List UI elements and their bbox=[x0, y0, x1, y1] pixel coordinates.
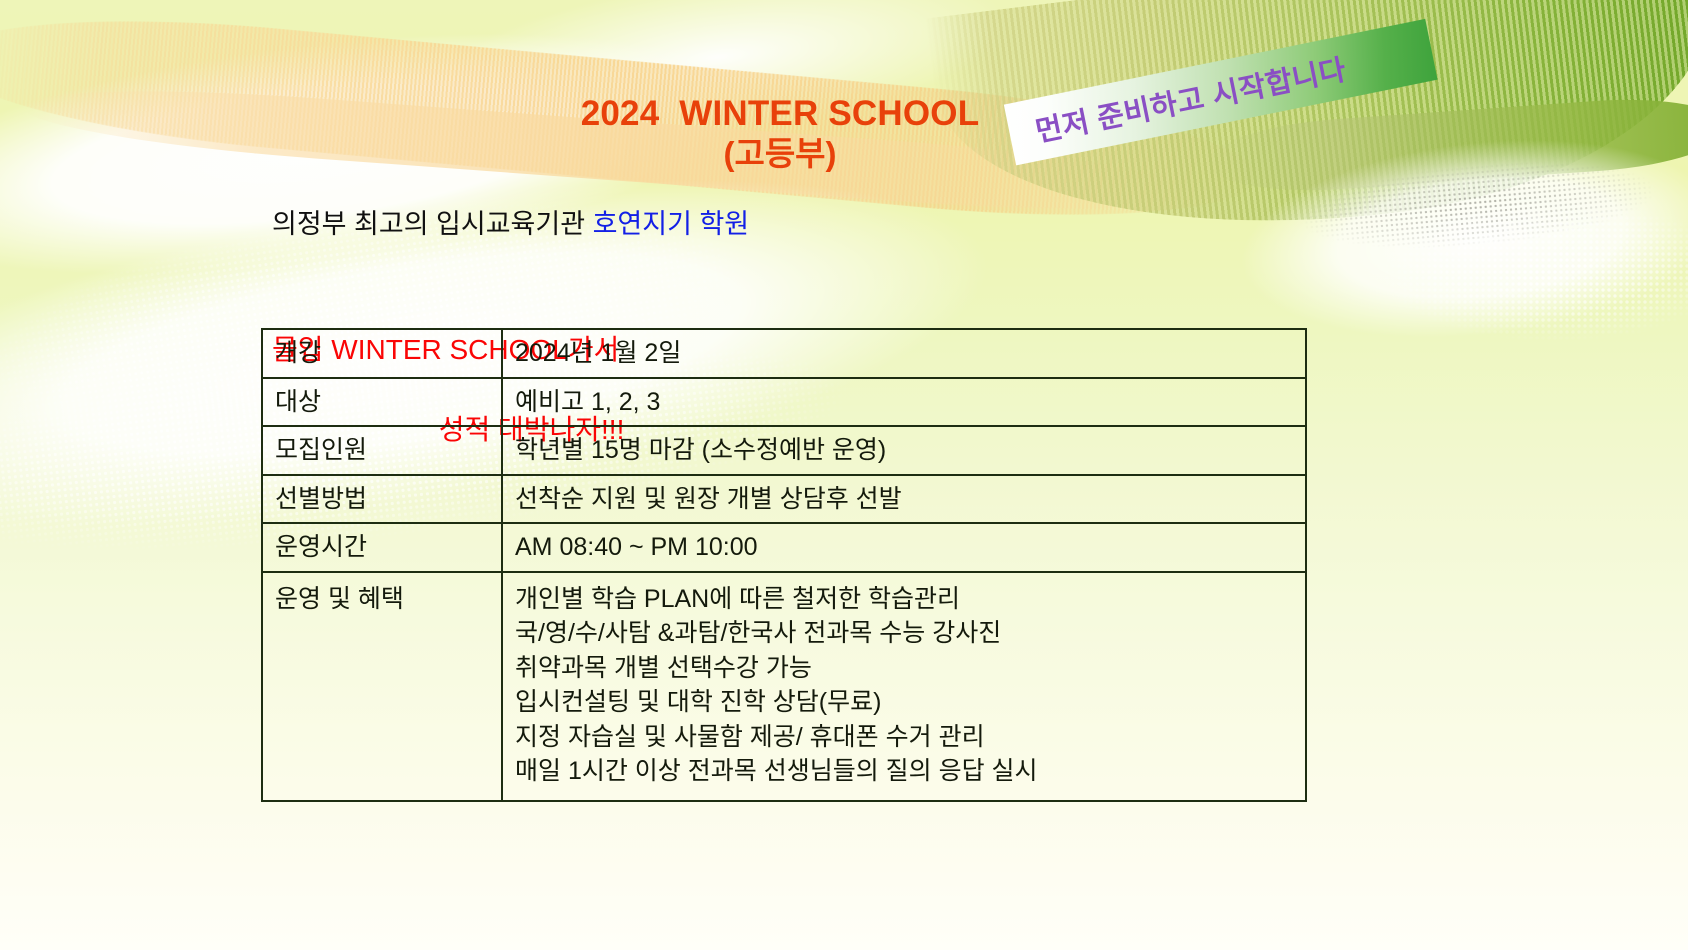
poster-canvas: 2024 WINTER SCHOOL (고등부) 먼저 준비하고 시작합니다 의… bbox=[0, 0, 1688, 950]
table-row: 대상 예비고 1, 2, 3 bbox=[262, 378, 1306, 427]
table-row-value: 2024년 1월 2일 bbox=[502, 329, 1306, 378]
table-row: 선별방법 선착순 지원 및 원장 개별 상담후 선발 bbox=[262, 475, 1306, 524]
table-row-label: 운영시간 bbox=[262, 523, 502, 572]
background-halftone-dots-right bbox=[1318, 185, 1688, 375]
academy-name: 호연지기 학원 bbox=[593, 209, 750, 239]
page-subtitle: (고등부) bbox=[0, 134, 1560, 174]
table-row-label: 대상 bbox=[262, 378, 502, 427]
table-row-label: 선별방법 bbox=[262, 475, 502, 524]
poster-title-block: 2024 WINTER SCHOOL (고등부) bbox=[0, 93, 1560, 174]
table-row-value: 개인별 학습 PLAN에 따른 철저한 학습관리 국/영/수/사탐 &과탐/한국… bbox=[502, 572, 1306, 801]
table-row-value: 학년별 15명 마감 (소수정예반 운영) bbox=[502, 426, 1306, 475]
table-row-value: 예비고 1, 2, 3 bbox=[502, 378, 1306, 427]
table-row: 모집인원 학년별 15명 마감 (소수정예반 운영) bbox=[262, 426, 1306, 475]
program-info-table-body: 개강 2024년 1월 2일 대상 예비고 1, 2, 3 모집인원 학년별 1… bbox=[262, 329, 1306, 801]
table-row-label: 운영 및 혜택 bbox=[262, 572, 502, 801]
table-row-value: AM 08:40 ~ PM 10:00 bbox=[502, 523, 1306, 572]
table-row: 운영 및 혜택 개인별 학습 PLAN에 따른 철저한 학습관리 국/영/수/사… bbox=[262, 572, 1306, 801]
table-row: 운영시간 AM 08:40 ~ PM 10:00 bbox=[262, 523, 1306, 572]
table-row-value: 선착순 지원 및 원장 개별 상담후 선발 bbox=[502, 475, 1306, 524]
table-row-label: 개강 bbox=[262, 329, 502, 378]
academy-intro-line: 의정부 최고의 입시교육기관 호연지기 학원 bbox=[272, 205, 749, 243]
academy-intro-text: 의정부 최고의 입시교육기관 bbox=[272, 209, 593, 239]
table-row: 개강 2024년 1월 2일 bbox=[262, 329, 1306, 378]
program-info-table: 개강 2024년 1월 2일 대상 예비고 1, 2, 3 모집인원 학년별 1… bbox=[261, 328, 1307, 802]
table-row-label: 모집인원 bbox=[262, 426, 502, 475]
